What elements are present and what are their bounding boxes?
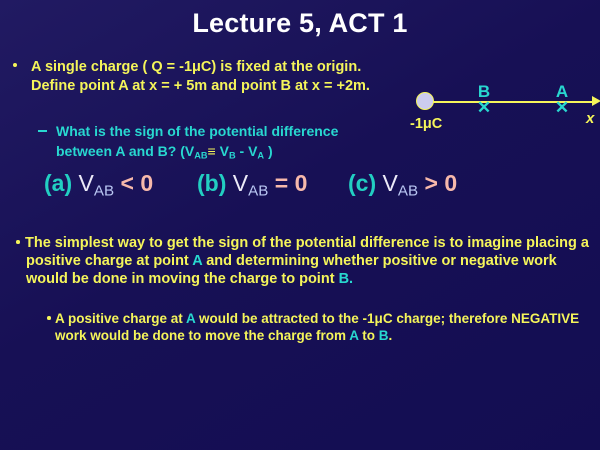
- bullet-dot-icon: [47, 316, 51, 320]
- subq-line1: What is the sign of the potential differ…: [56, 123, 338, 139]
- bullet1-line3: at x = +2m.: [295, 78, 370, 94]
- sub-explanation-part1: A positive charge at: [55, 311, 186, 326]
- sub-bullet-question: What is the sign of the potential differ…: [38, 121, 378, 166]
- answer-choice-c[interactable]: (c) VAB > 0: [348, 170, 457, 199]
- sub-explanation-part4: .: [389, 328, 393, 343]
- choice-a-subscript: AB: [94, 182, 114, 199]
- axis-point-b-marker-icon: ✕: [476, 99, 492, 116]
- bullet-dot-icon: [16, 240, 20, 244]
- choice-a-v: V: [79, 170, 94, 196]
- choice-c-label: (c): [348, 170, 376, 196]
- page-title: Lecture 5, ACT 1: [0, 8, 600, 39]
- subq-minus-va: - V: [236, 143, 258, 159]
- choice-a-label: (a): [44, 170, 72, 196]
- choice-c-variable: VAB: [383, 170, 419, 196]
- bullet-dot-icon: [13, 63, 17, 67]
- answer-choice-b[interactable]: (b) VAB = 0: [197, 170, 307, 199]
- subq-vb: V: [216, 143, 229, 159]
- subq-sub-ab: AB: [194, 151, 207, 161]
- explanation-part3: .: [349, 271, 353, 287]
- choice-b-v: V: [233, 170, 248, 196]
- sub-explanation-part3: to: [359, 328, 379, 343]
- sub-bullet-question-text: What is the sign of the potential differ…: [56, 121, 378, 166]
- axis-arrowhead-icon: [592, 96, 600, 106]
- sub-explanation-highlight-a2: A: [349, 328, 358, 343]
- choice-c-v: V: [383, 170, 398, 196]
- sub-explanation-paragraph: A positive charge at A would be attracte…: [47, 310, 592, 344]
- axis-x-label: x: [586, 110, 594, 127]
- sub-explanation-text: A positive charge at A would be attracte…: [55, 310, 592, 344]
- choice-b-label: (b): [197, 170, 226, 196]
- axis-point-a-marker-icon: ✕: [554, 99, 570, 116]
- subq-close-paren: ): [264, 143, 273, 159]
- charge-axis-diagram: -1μC B ✕ A ✕ x: [408, 80, 600, 140]
- axis-point-a: A ✕: [554, 83, 570, 116]
- choice-b-variable: VAB: [233, 170, 269, 196]
- sub-explanation-highlight-a1: A: [186, 311, 195, 326]
- point-charge-icon: [416, 92, 434, 110]
- dash-bullet-icon: [38, 130, 47, 132]
- sub-explanation-highlight-b: B: [379, 328, 389, 343]
- explanation-highlight-b: B: [339, 271, 349, 287]
- choice-c-relation: > 0: [425, 170, 458, 196]
- subq-line2-prefix: between A and B? (V: [56, 143, 194, 159]
- choice-a-variable: VAB: [79, 170, 115, 196]
- answer-choices: (a) VAB < 0 (b) VAB = 0 (c) VAB > 0: [44, 170, 564, 204]
- answer-choice-a[interactable]: (a) VAB < 0: [44, 170, 153, 199]
- slide-canvas: Lecture 5, ACT 1 A single charge ( Q = -…: [0, 0, 600, 450]
- choice-b-relation: = 0: [275, 170, 308, 196]
- bullet-charge-setup-text: A single charge ( Q = -1μC) is fixed at …: [31, 58, 373, 96]
- bullet1-line1: A single charge ( Q = -1μC) is fixed at …: [31, 59, 313, 75]
- choice-b-subscript: AB: [248, 182, 268, 199]
- explanation-highlight-a: A: [192, 253, 202, 269]
- identity-symbol: ≡: [208, 143, 216, 159]
- explanation-text: The simplest way to get the sign of the …: [26, 234, 592, 288]
- charge-value-label: -1μC: [410, 116, 442, 132]
- choice-c-subscript: AB: [398, 182, 418, 199]
- subq-sub-b: B: [229, 151, 236, 161]
- explanation-paragraph: The simplest way to get the sign of the …: [16, 234, 592, 288]
- bullet-charge-setup: A single charge ( Q = -1μC) is fixed at …: [13, 58, 373, 96]
- choice-a-relation: < 0: [121, 170, 154, 196]
- axis-point-b: B ✕: [476, 83, 492, 116]
- axis-line: [430, 101, 596, 103]
